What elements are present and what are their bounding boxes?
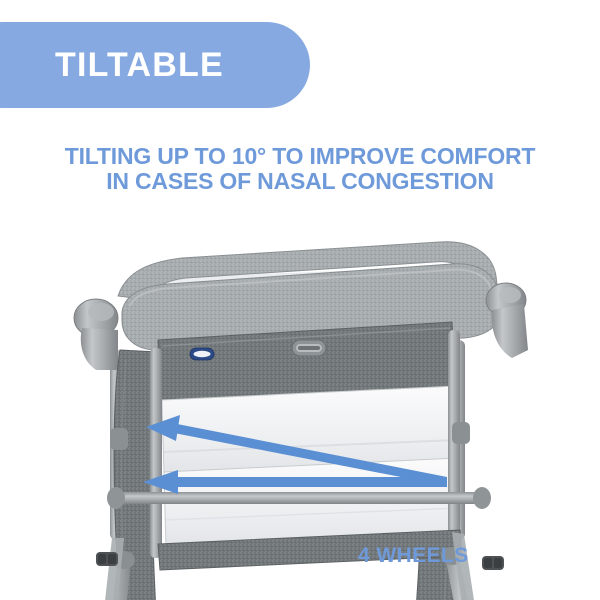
product-illustration [0,200,600,600]
subtitle-line-2: IN CASES OF NASAL CONGESTION [0,169,600,194]
product-feature-image: TILTABLE TILTING UP TO 10° TO IMPROVE CO… [0,0,600,600]
wheels-caption: 4 WHEELS [358,544,469,568]
handle-slot [292,340,326,356]
end-cap-right [486,283,528,358]
banner-title: TILTABLE [55,44,224,86]
chicco-logo-badge [190,348,214,360]
wheel-front-left [96,552,118,566]
subtitle-line-1: TILTING UP TO 10° TO IMPROVE COMFORT [0,144,600,169]
subtitle-block: TILTING UP TO 10° TO IMPROVE COMFORT IN … [0,144,600,194]
wheel-front-right [482,556,504,570]
end-cap-left [74,299,118,370]
